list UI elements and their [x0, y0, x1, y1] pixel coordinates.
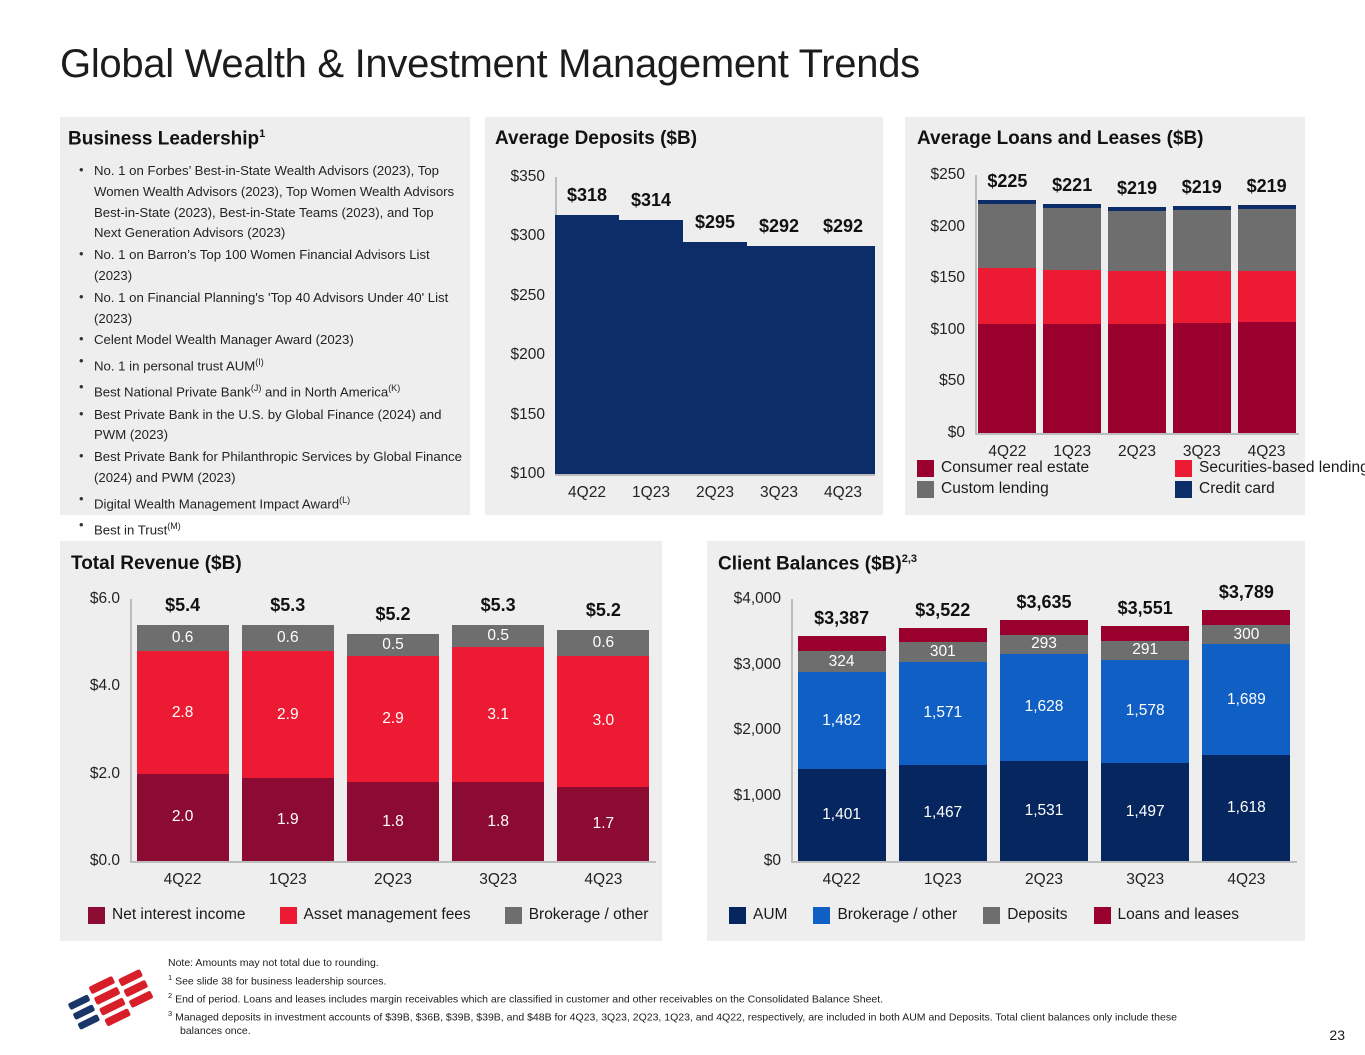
- x-axis-tick-label: 4Q22: [164, 871, 202, 889]
- chart-bar-segment-label: 2.8: [172, 704, 194, 722]
- chart-bar[interactable]: 1,4011,482324: [798, 599, 886, 861]
- x-axis-line: [130, 861, 656, 863]
- chart-bar-segment[interactable]: [1238, 209, 1296, 271]
- chart-bar-segment[interactable]: [1173, 206, 1231, 210]
- chart-bar[interactable]: 1,4971,578291: [1101, 599, 1189, 861]
- footnote-3: 3 Managed deposits in investment account…: [168, 1007, 1293, 1025]
- legend-item[interactable]: Consumer real estate: [917, 459, 1175, 477]
- average-deposits-title: Average Deposits ($B): [495, 128, 697, 150]
- y-axis-tick-label: $250: [493, 287, 545, 305]
- business-leadership-item: Best in Trust(M): [72, 516, 464, 541]
- business-leadership-title-text: Business Leadership: [68, 128, 259, 149]
- chart-bar-segment[interactable]: [978, 268, 1036, 324]
- chart-bar-segment[interactable]: [747, 246, 811, 474]
- x-axis-tick-label: 2Q23: [696, 484, 734, 502]
- chart-bar-segment-label: 1,628: [1025, 698, 1064, 716]
- x-axis-line: [975, 433, 1299, 435]
- chart-bar-segment[interactable]: [1173, 271, 1231, 323]
- chart-bar-segment[interactable]: 3.1: [452, 647, 544, 782]
- x-axis-tick-label: 2Q23: [374, 871, 412, 889]
- chart-bar-total-label: $221: [1052, 175, 1092, 196]
- business-leadership-item-text: No. 1 on Forbes’ Best-in-State Wealth Ad…: [94, 163, 454, 240]
- chart-bar-segment-label: 1,531: [1025, 802, 1064, 820]
- chart-bar[interactable]: 1,4671,571301: [899, 599, 987, 861]
- business-leadership-item-text: Best National Private Bank: [94, 385, 251, 400]
- footnote-3-continued: balances once.: [168, 1025, 1293, 1039]
- business-leadership-item: No. 1 in personal trust AUM(I): [72, 352, 464, 377]
- chart-bar-segment-label: 1,401: [822, 806, 861, 824]
- chart-bar[interactable]: [1173, 175, 1231, 433]
- y-axis-tick-label: $1,000: [715, 787, 781, 805]
- chart-bar[interactable]: 1.83.10.5: [452, 599, 544, 861]
- x-axis-tick-label: 3Q23: [1126, 871, 1164, 889]
- chart-bar-total-label: $5.2: [586, 600, 621, 621]
- chart-bar-segment[interactable]: 0.5: [347, 634, 439, 656]
- legend-label: AUM: [753, 906, 787, 924]
- chart-bar-segment[interactable]: [1108, 324, 1166, 433]
- business-leadership-item-text: Best in Trust: [94, 522, 167, 537]
- chart-bar-segment-label: 2.9: [277, 706, 299, 724]
- chart-bar[interactable]: 1.92.90.6: [242, 599, 334, 861]
- chart-bar-segment[interactable]: 1,482: [798, 672, 886, 769]
- chart-bar-segment-label: 0.5: [382, 636, 404, 654]
- legend-item[interactable]: Loans and leases: [1094, 906, 1240, 924]
- chart-bar-segment[interactable]: [1238, 271, 1296, 322]
- chart-bar-segment[interactable]: [1043, 270, 1101, 324]
- legend-swatch: [1094, 907, 1111, 924]
- business-leadership-item-superscript: (I): [255, 357, 264, 367]
- chart-bar-segment[interactable]: [1043, 324, 1101, 433]
- total-revenue-legend: Net interest incomeAsset management fees…: [88, 906, 648, 924]
- business-leadership-item-text: No. 1 on Barron’s Top 100 Women Financia…: [94, 247, 430, 283]
- chart-bar[interactable]: [1238, 175, 1296, 433]
- average-loans-leases-panel: Average Loans and Leases ($B) $0$50$100$…: [905, 117, 1305, 515]
- chart-bar-segment[interactable]: 1.8: [452, 782, 544, 861]
- chart-bar-segment[interactable]: 0.5: [452, 625, 544, 647]
- chart-bar-total-label: $3,387: [814, 608, 869, 629]
- y-axis-tick-label: $300: [493, 227, 545, 245]
- legend-item[interactable]: Brokerage / other: [505, 906, 649, 924]
- footnote-1-text: See slide 38 for business leadership sou…: [172, 975, 386, 987]
- chart-bar-segment-label: 324: [829, 653, 855, 671]
- chart-bar-segment[interactable]: 2.9: [242, 651, 334, 778]
- legend-swatch: [280, 907, 297, 924]
- chart-bar-segment-label: 1.8: [382, 813, 404, 831]
- business-leadership-item: Digital Wealth Management Impact Award(L…: [72, 490, 464, 515]
- chart-bar[interactable]: [555, 177, 619, 474]
- business-leadership-item: No. 1 on Financial Planning's 'Top 40 Ad…: [72, 288, 464, 330]
- chart-bar-segment[interactable]: 1,571: [899, 662, 987, 765]
- chart-bar-segment[interactable]: 2.8: [137, 651, 229, 773]
- chart-bar-total-label: $314: [631, 190, 671, 211]
- y-axis-line: [975, 175, 977, 433]
- chart-bar-segment-label: 1,571: [923, 704, 962, 722]
- chart-bar-total-label: $5.2: [375, 604, 410, 625]
- footnote-2-text: End of period. Loans and leases includes…: [172, 993, 883, 1005]
- business-leadership-item-superscript: (L): [339, 495, 350, 505]
- chart-bar-segment-label: 1,689: [1227, 691, 1266, 709]
- chart-bar-segment-label: 0.6: [172, 629, 194, 647]
- chart-bar[interactable]: 2.02.80.6: [137, 599, 229, 861]
- total-revenue-panel: Total Revenue ($B) $0.0$2.0$4.0$6.02.02.…: [60, 541, 662, 941]
- y-axis-tick-label: $3,000: [715, 656, 781, 674]
- chart-bar-total-label: $295: [695, 212, 735, 233]
- y-axis-tick-label: $100: [913, 321, 965, 339]
- client-balances-title-text: Client Balances ($B): [718, 553, 902, 574]
- chart-bar-segment[interactable]: [1043, 208, 1101, 270]
- chart-bar-segment[interactable]: [1202, 610, 1290, 625]
- business-leadership-item: Best National Private Bank(J) and in Nor…: [72, 378, 464, 403]
- legend-label: Consumer real estate: [941, 459, 1089, 477]
- chart-bar-segment[interactable]: 1,628: [1000, 654, 1088, 761]
- client-balances-title-superscript: 2,3: [902, 553, 917, 565]
- chart-bar-segment[interactable]: 0.6: [242, 625, 334, 651]
- chart-bar-segment[interactable]: [899, 628, 987, 642]
- chart-bar-segment[interactable]: 1,531: [1000, 761, 1088, 861]
- chart-bar-segment-label: 2.9: [382, 710, 404, 728]
- business-leadership-item-text: Digital Wealth Management Impact Award: [94, 496, 339, 511]
- business-leadership-item-text-tail: and in North America: [261, 385, 388, 400]
- chart-bar-segment[interactable]: [1173, 210, 1231, 271]
- chart-bar-segment-label: 291: [1132, 641, 1158, 659]
- legend-swatch: [88, 907, 105, 924]
- business-leadership-item: No. 1 on Barron’s Top 100 Women Financia…: [72, 245, 464, 287]
- chart-bar-segment-label: 1,497: [1126, 803, 1165, 821]
- footnote-note: Note: Amounts may not total due to round…: [168, 957, 1293, 971]
- chart-bar-segment-label: 1.9: [277, 811, 299, 829]
- business-leadership-title-superscript: 1: [259, 128, 265, 140]
- chart-bar-segment[interactable]: 3.0: [557, 656, 649, 787]
- legend-item[interactable]: Securities-based lending: [1175, 459, 1365, 477]
- legend-item[interactable]: Brokerage / other: [813, 906, 957, 924]
- chart-bar[interactable]: [978, 175, 1036, 433]
- chart-bar-segment[interactable]: 1.7: [557, 787, 649, 861]
- x-axis-tick-label: 4Q23: [584, 871, 622, 889]
- y-axis-tick-label: $2.0: [68, 765, 120, 783]
- chart-bar-total-label: $3,522: [915, 600, 970, 621]
- chart-bar-segment-label: 300: [1233, 626, 1259, 644]
- x-axis-tick-label: 4Q22: [568, 484, 606, 502]
- x-axis-line: [791, 861, 1297, 863]
- legend-label: Asset management fees: [304, 906, 471, 924]
- chart-bar-segment-label: 293: [1031, 635, 1057, 653]
- y-axis-tick-label: $100: [493, 465, 545, 483]
- legend-label: Deposits: [1007, 906, 1067, 924]
- business-leadership-title: Business Leadership1: [68, 128, 265, 150]
- y-axis-line: [130, 599, 132, 861]
- chart-bar-segment[interactable]: 0.6: [137, 625, 229, 651]
- chart-bar[interactable]: [1108, 175, 1166, 433]
- y-axis-tick-label: $50: [913, 372, 965, 390]
- chart-bar-segment[interactable]: 324: [798, 651, 886, 672]
- chart-bar-segment[interactable]: 2.0: [137, 774, 229, 861]
- legend-item[interactable]: Custom lending: [917, 480, 1175, 498]
- footnote-1: 1 See slide 38 for business leadership s…: [168, 971, 1293, 989]
- legend-swatch: [1175, 481, 1192, 498]
- business-leadership-item: Best Private Bank in the U.S. by Global …: [72, 405, 464, 447]
- y-axis-tick-label: $200: [913, 218, 965, 236]
- chart-bar-total-label: $3,551: [1118, 598, 1173, 619]
- x-axis-tick-label: 1Q23: [632, 484, 670, 502]
- business-leadership-item-text: No. 1 on Financial Planning's 'Top 40 Ad…: [94, 290, 448, 326]
- x-axis-tick-label: 3Q23: [760, 484, 798, 502]
- chart-bar-segment[interactable]: 1.9: [242, 778, 334, 861]
- chart-bar-segment[interactable]: [811, 246, 875, 474]
- business-leadership-item-superscript: (M): [167, 521, 181, 531]
- business-leadership-item-text: Best Private Bank in the U.S. by Global …: [94, 407, 441, 443]
- chart-bar-segment[interactable]: [1101, 626, 1189, 641]
- y-axis-tick-label: $150: [913, 269, 965, 287]
- chart-bar-segment[interactable]: [1000, 620, 1088, 635]
- client-balances-legend: AUMBrokerage / otherDepositsLoans and le…: [729, 906, 1239, 924]
- chart-bar[interactable]: 1,5311,628293: [1000, 599, 1088, 861]
- business-leadership-item-superscript: (J): [251, 383, 262, 393]
- legend-item[interactable]: Credit card: [1175, 480, 1365, 498]
- chart-bar-total-label: $219: [1247, 176, 1287, 197]
- chart-bar[interactable]: 1,6181,689300: [1202, 599, 1290, 861]
- chart-bar-segment-label: 301: [930, 643, 956, 661]
- chart-bar-segment-label: 2.0: [172, 808, 194, 826]
- x-axis-tick-label: 4Q23: [824, 484, 862, 502]
- chart-bar[interactable]: 1.73.00.6: [557, 599, 649, 861]
- total-revenue-title: Total Revenue ($B): [71, 553, 242, 575]
- x-axis-tick-label: 4Q23: [1227, 871, 1265, 889]
- chart-bar-segment[interactable]: [683, 242, 747, 474]
- chart-bar-total-label: $219: [1182, 177, 1222, 198]
- y-axis-tick-label: $4.0: [68, 677, 120, 695]
- x-axis-tick-label: 1Q23: [924, 871, 962, 889]
- chart-bar-segment-label: 1.7: [593, 815, 615, 833]
- y-axis-line: [791, 599, 793, 861]
- chart-bar[interactable]: [619, 177, 683, 474]
- x-axis-tick-label: 4Q22: [823, 871, 861, 889]
- chart-bar-segment[interactable]: [1108, 271, 1166, 324]
- chart-bar-segment[interactable]: 293: [1000, 635, 1088, 654]
- chart-bar-total-label: $219: [1117, 178, 1157, 199]
- business-leadership-item-text: Best Private Bank for Philanthropic Serv…: [94, 449, 462, 485]
- chart-bar-segment-label: 1,618: [1227, 799, 1266, 817]
- chart-bar-segment[interactable]: 2.9: [347, 656, 439, 783]
- average-deposits-panel: Average Deposits ($B) $100$150$200$250$3…: [485, 117, 883, 515]
- chart-bar[interactable]: 1.82.90.5: [347, 599, 439, 861]
- footnote-3-text: Managed deposits in investment accounts …: [172, 1011, 1177, 1023]
- chart-bar-segment[interactable]: 1,467: [899, 765, 987, 861]
- legend-label: Loans and leases: [1118, 906, 1240, 924]
- legend-swatch: [729, 907, 746, 924]
- chart-bar-segment[interactable]: 301: [899, 642, 987, 662]
- page-number: 23: [1329, 1027, 1345, 1043]
- business-leadership-item-text: No. 1 in personal trust AUM: [94, 359, 255, 374]
- chart-bar-segment[interactable]: [978, 200, 1036, 204]
- client-balances-title: Client Balances ($B)2,3: [718, 553, 917, 575]
- chart-bar-segment[interactable]: 1.8: [347, 782, 439, 861]
- y-axis-tick-label: $0: [715, 852, 781, 870]
- chart-bar-segment[interactable]: 1,497: [1101, 763, 1189, 861]
- chart-bar-segment-label: 1,482: [822, 712, 861, 730]
- chart-bar-segment[interactable]: 1,689: [1202, 644, 1290, 755]
- footnote-2: 2 End of period. Loans and leases includ…: [168, 989, 1293, 1007]
- chart-bar-segment[interactable]: 1,401: [798, 769, 886, 861]
- average-loans-leases-title: Average Loans and Leases ($B): [917, 128, 1204, 150]
- chart-bar-segment-label: 1.8: [487, 813, 509, 831]
- chart-bar-segment-label: 3.0: [593, 712, 615, 730]
- chart-bar-segment[interactable]: [619, 220, 683, 474]
- legend-label: Securities-based lending: [1199, 459, 1365, 477]
- chart-bar-segment[interactable]: [1173, 323, 1231, 433]
- chart-bar-segment[interactable]: 0.6: [557, 630, 649, 656]
- chart-bar-segment-label: 0.5: [487, 627, 509, 645]
- business-leadership-item-text: Celent Model Wealth Manager Award (2023): [94, 332, 354, 347]
- chart-bar-segment[interactable]: [798, 636, 886, 651]
- legend-item[interactable]: AUM: [729, 906, 787, 924]
- business-leadership-item: Celent Model Wealth Manager Award (2023): [72, 330, 464, 351]
- legend-item[interactable]: Deposits: [983, 906, 1067, 924]
- chart-bar-segment[interactable]: [1238, 322, 1296, 433]
- y-axis-tick-label: $200: [493, 346, 545, 364]
- x-axis-tick-label: 3Q23: [479, 871, 517, 889]
- legend-swatch: [813, 907, 830, 924]
- chart-bar-segment-label: 1,578: [1126, 702, 1165, 720]
- chart-bar-segment-label: 3.1: [487, 706, 509, 724]
- y-axis-tick-label: $0: [913, 424, 965, 442]
- legend-item[interactable]: Asset management fees: [280, 906, 471, 924]
- y-axis-tick-label: $2,000: [715, 721, 781, 739]
- legend-label: Credit card: [1199, 480, 1275, 498]
- chart-bar[interactable]: [1043, 175, 1101, 433]
- average-loans-leases-legend: Consumer real estateSecurities-based len…: [917, 459, 1365, 498]
- legend-label: Brokerage / other: [529, 906, 649, 924]
- y-axis-tick-label: $150: [493, 406, 545, 424]
- chart-bar-segment[interactable]: [1043, 204, 1101, 208]
- chart-bar-segment[interactable]: [1108, 211, 1166, 271]
- chart-bar-segment-label: 1,467: [923, 804, 962, 822]
- footnotes: Note: Amounts may not total due to round…: [168, 957, 1293, 1038]
- legend-swatch: [917, 481, 934, 498]
- legend-swatch: [505, 907, 522, 924]
- business-leadership-item-superscript-tail: (K): [388, 383, 400, 393]
- legend-label: Brokerage / other: [837, 906, 957, 924]
- x-axis-tick-label: 1Q23: [269, 871, 307, 889]
- chart-bar-segment[interactable]: 1,618: [1202, 755, 1290, 861]
- chart-bar-total-label: $318: [567, 185, 607, 206]
- page-title: Global Wealth & Investment Management Tr…: [60, 42, 920, 87]
- chart-bar-total-label: $5.3: [270, 595, 305, 616]
- legend-swatch: [983, 907, 1000, 924]
- chart-bar-segment-label: 0.6: [277, 629, 299, 647]
- legend-label: Net interest income: [112, 906, 246, 924]
- chart-bar-total-label: $5.4: [165, 595, 200, 616]
- business-leadership-panel: Business Leadership1 No. 1 on Forbes’ Be…: [60, 117, 470, 515]
- bank-of-america-logo: [64, 968, 160, 1030]
- legend-label: Custom lending: [941, 480, 1049, 498]
- chart-bar-segment[interactable]: 1,578: [1101, 660, 1189, 763]
- chart-bar-segment[interactable]: [1108, 207, 1166, 211]
- client-balances-panel: Client Balances ($B)2,3 $0$1,000$2,000$3…: [707, 541, 1305, 941]
- business-leadership-list: No. 1 on Forbes’ Best-in-State Wealth Ad…: [72, 161, 464, 542]
- chart-bar-segment[interactable]: 291: [1101, 641, 1189, 660]
- x-axis-tick-label: 2Q23: [1025, 871, 1063, 889]
- y-axis-tick-label: $250: [913, 166, 965, 184]
- legend-item[interactable]: Net interest income: [88, 906, 246, 924]
- y-axis-tick-label: $4,000: [715, 590, 781, 608]
- chart-bar-total-label: $225: [987, 171, 1027, 192]
- x-axis-line: [555, 474, 875, 476]
- chart-bar-segment[interactable]: [555, 215, 619, 474]
- business-leadership-item: Best Private Bank for Philanthropic Serv…: [72, 447, 464, 489]
- legend-swatch: [917, 460, 934, 477]
- chart-bar-total-label: $292: [823, 216, 863, 237]
- chart-bar-segment-label: 0.6: [593, 634, 615, 652]
- chart-bar-segment[interactable]: [978, 324, 1036, 433]
- business-leadership-item: No. 1 on Forbes’ Best-in-State Wealth Ad…: [72, 161, 464, 244]
- chart-bar-total-label: $5.3: [481, 595, 516, 616]
- chart-bar-total-label: $3,789: [1219, 582, 1274, 603]
- chart-bar-segment[interactable]: [978, 204, 1036, 268]
- y-axis-tick-label: $0.0: [68, 852, 120, 870]
- y-axis-tick-label: $6.0: [68, 590, 120, 608]
- chart-bar-segment[interactable]: [1238, 205, 1296, 209]
- chart-bar-total-label: $3,635: [1016, 592, 1071, 613]
- chart-bar-segment[interactable]: 300: [1202, 625, 1290, 645]
- y-axis-tick-label: $350: [493, 168, 545, 186]
- chart-bar-total-label: $292: [759, 216, 799, 237]
- legend-swatch: [1175, 460, 1192, 477]
